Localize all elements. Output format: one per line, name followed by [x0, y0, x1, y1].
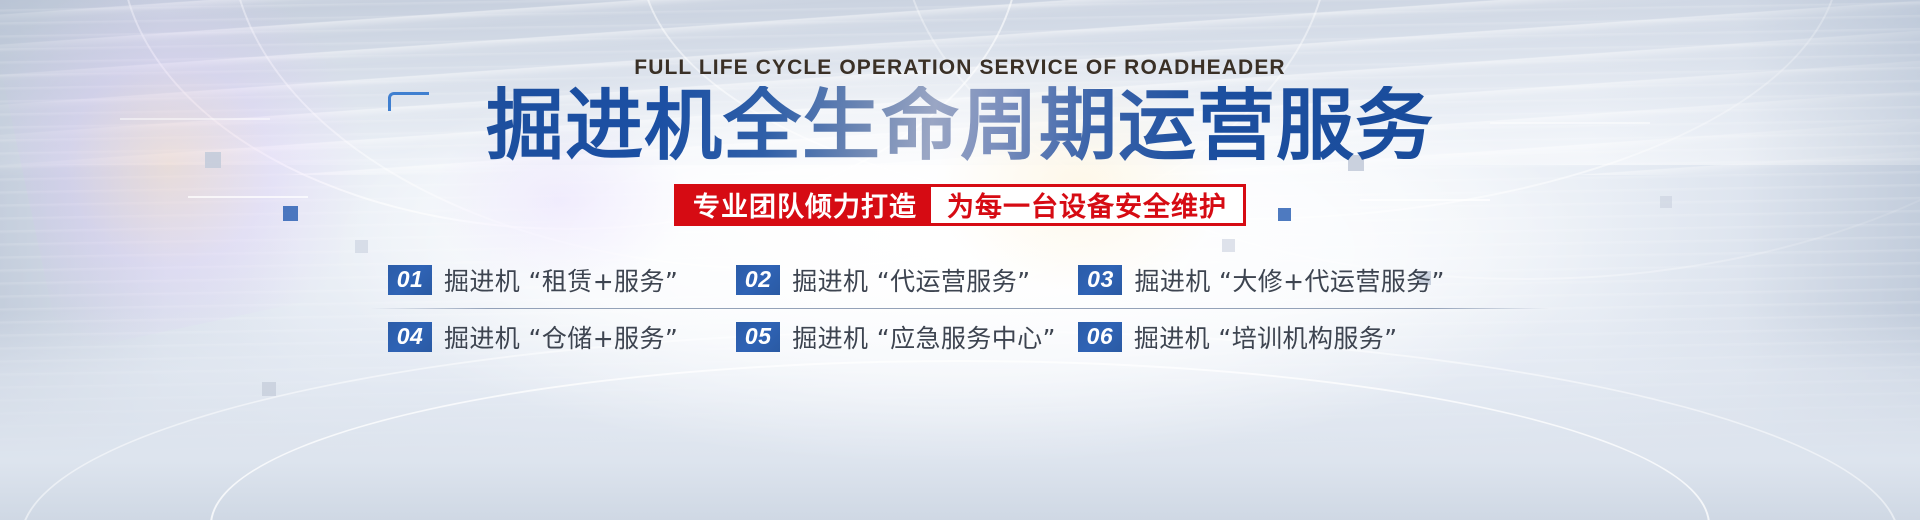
service-number-badge: 05 [736, 322, 780, 352]
service-item-03[interactable]: 03 掘进机 “大修+代运营服务” [1078, 262, 1444, 298]
promo-banner: FULL LIFE CYCLE OPERATION SERVICE OF ROA… [0, 0, 1920, 520]
slogan-primary: 专业团队倾力打造 [677, 187, 931, 223]
service-number-badge: 03 [1078, 265, 1122, 295]
service-item-01[interactable]: 01 掘进机 “租赁+服务” [388, 262, 678, 298]
service-label: 掘进机 “租赁+服务” [444, 262, 678, 298]
service-list: 01 掘进机 “租赁+服务” 02 掘进机 “代运营服务” 03 掘进机 “大修… [370, 254, 1550, 363]
service-label: 掘进机 “大修+代运营服务” [1134, 262, 1444, 298]
service-number-badge: 04 [388, 322, 432, 352]
service-item-05[interactable]: 05 掘进机 “应急服务中心” [736, 319, 1056, 355]
service-number-badge: 02 [736, 265, 780, 295]
banner-eyebrow: FULL LIFE CYCLE OPERATION SERVICE OF ROA… [634, 56, 1285, 80]
service-label: 掘进机 “仓储+服务” [444, 319, 678, 355]
page-title: 掘进机全生命周期运营服务 [486, 86, 1434, 168]
service-number-badge: 06 [1078, 322, 1122, 352]
service-number-badge: 01 [388, 265, 432, 295]
service-label: 掘进机 “代运营服务” [792, 262, 1030, 298]
banner-content: FULL LIFE CYCLE OPERATION SERVICE OF ROA… [0, 0, 1920, 520]
service-row-divider [370, 308, 1550, 309]
service-item-02[interactable]: 02 掘进机 “代运营服务” [736, 262, 1030, 298]
service-item-06[interactable]: 06 掘进机 “培训机构服务” [1078, 319, 1398, 355]
slogan-banner: 专业团队倾力打造 为每一台设备安全维护 [674, 184, 1246, 226]
service-label: 掘进机 “应急服务中心” [792, 319, 1056, 355]
service-item-04[interactable]: 04 掘进机 “仓储+服务” [388, 319, 678, 355]
service-label: 掘进机 “培训机构服务” [1134, 319, 1398, 355]
service-row-2: 04 掘进机 “仓储+服务” 05 掘进机 “应急服务中心” 06 掘进机 “培… [370, 311, 1550, 363]
slogan-secondary: 为每一台设备安全维护 [931, 187, 1243, 223]
service-row-1: 01 掘进机 “租赁+服务” 02 掘进机 “代运营服务” 03 掘进机 “大修… [370, 254, 1550, 306]
